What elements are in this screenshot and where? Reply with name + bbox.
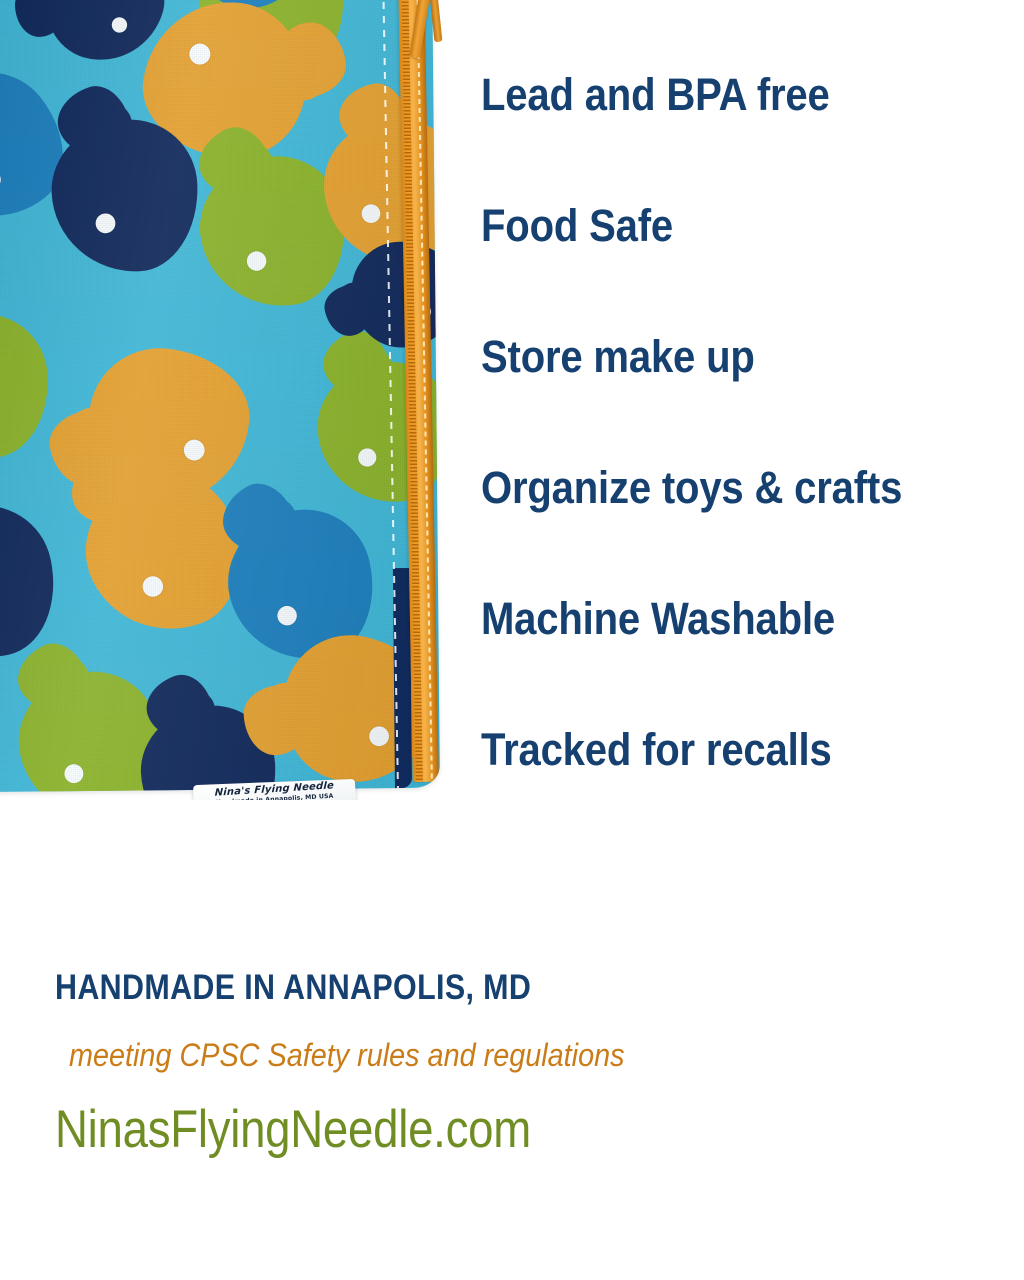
- product-photo: Nina's Flying Needle Handmade in Annapol…: [0, 0, 452, 800]
- footer-cpsc-compliance: meeting CPSC Safety rules and regulation…: [69, 1036, 848, 1074]
- whale-pattern-layer: [0, 0, 440, 792]
- whale-icon: [47, 86, 201, 275]
- feature-item-lead-bpa-free: Lead and BPA free: [481, 68, 944, 199]
- feature-list: Lead and BPA free Food Safe Store make u…: [481, 68, 1001, 854]
- feature-item-food-safe: Food Safe: [481, 199, 944, 330]
- feature-item-machine-washable: Machine Washable: [481, 592, 944, 723]
- product-feature-graphic: Nina's Flying Needle Handmade in Annapol…: [0, 0, 1024, 1280]
- feature-item-tracked-for-recalls: Tracked for recalls: [481, 723, 944, 854]
- footer-handmade-location: HANDMADE IN ANNAPOLIS, MD: [55, 968, 821, 1008]
- feature-item-store-make-up: Store make up: [481, 330, 944, 461]
- footer-block: HANDMADE IN ANNAPOLIS, MD meeting CPSC S…: [55, 968, 935, 1160]
- whale-icon: [0, 463, 69, 673]
- footer-website-url[interactable]: NinasFlyingNeedle.com: [55, 1100, 812, 1160]
- whale-icon: [0, 280, 54, 463]
- feature-item-organize-toys-crafts: Organize toys & crafts: [481, 461, 944, 592]
- whale-body: [0, 309, 54, 464]
- fabric-panel: [0, 0, 440, 792]
